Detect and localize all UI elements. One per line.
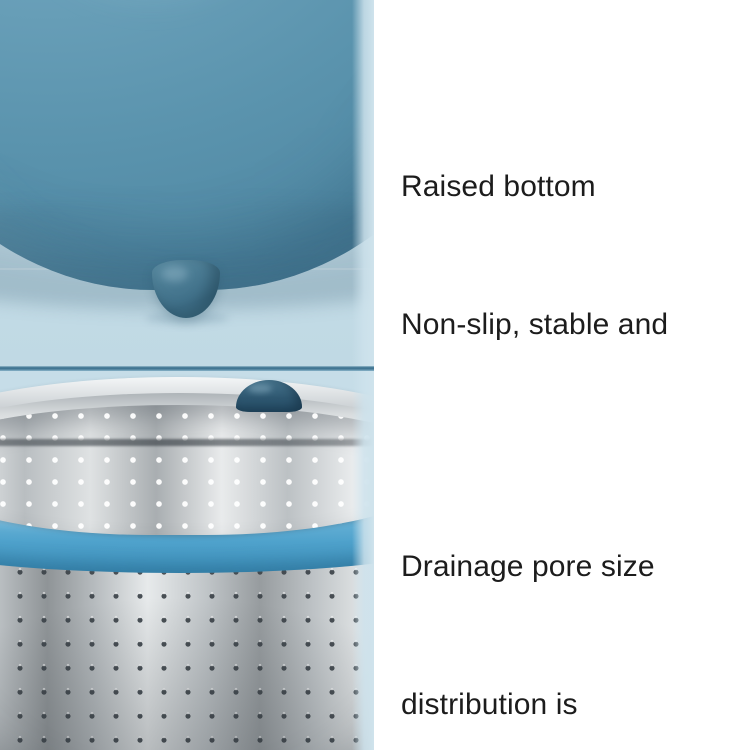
drainage-pore-caption: Drainage pore size distribution is unifo… [401, 452, 655, 750]
top-text-column: Raised bottom Non-slip, stable and breat… [374, 0, 750, 366]
photo-right-fade [352, 371, 374, 750]
interior-perforation-pattern [0, 405, 374, 535]
stainless-colander-photo [0, 371, 374, 750]
photo-right-fade [352, 0, 374, 366]
foot-highlight [162, 266, 188, 282]
caption-line: distribution is [401, 682, 655, 728]
caption-line: Drainage pore size [401, 544, 655, 590]
raised-bottom-caption: Raised bottom Non-slip, stable and breat… [401, 72, 668, 366]
caption-line: Raised bottom [401, 164, 668, 210]
caption-line: Non-slip, stable and [401, 302, 668, 348]
top-panel: Raised bottom Non-slip, stable and breat… [0, 0, 750, 366]
product-infographic: Raised bottom Non-slip, stable and breat… [0, 0, 750, 750]
handle-nub-highlight [248, 384, 272, 393]
colander-interior [0, 405, 374, 535]
blue-bowl-bottom-photo [0, 0, 374, 366]
interior-seam [0, 439, 374, 446]
